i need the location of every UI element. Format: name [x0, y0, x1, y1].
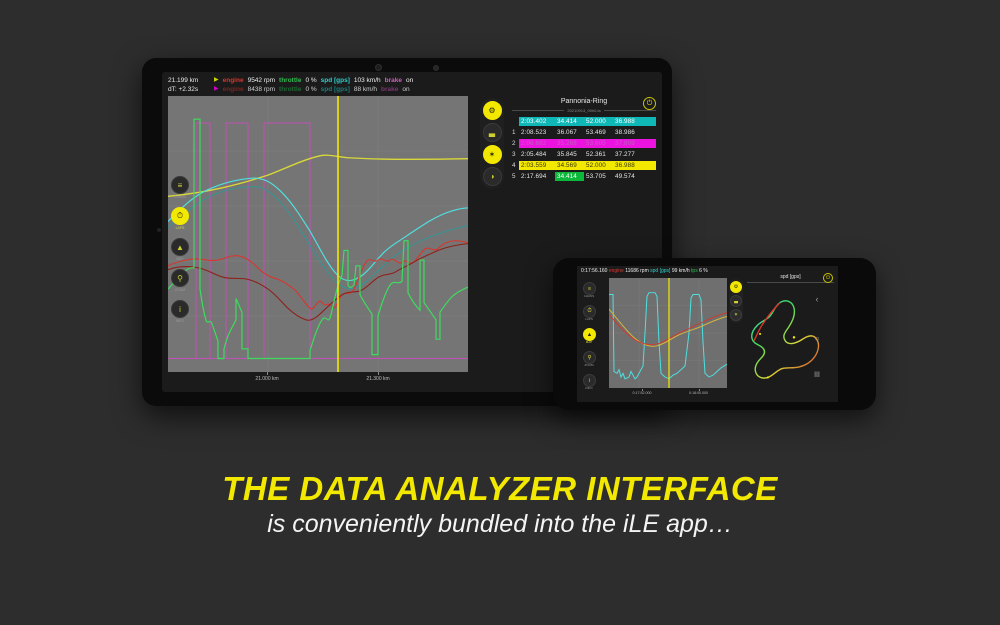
sidebar-item-label: INFO: [171, 319, 189, 323]
sector-3: 36.988: [613, 161, 642, 170]
sector-1: 35.268: [555, 139, 584, 148]
brake-label-a: brake: [385, 76, 402, 85]
phone-device: 0:17:56.160 engine 11686 rpm spd [gps] 9…: [553, 258, 876, 410]
phone-speed-label: spd [gps]: [650, 268, 670, 274]
cursor-icon: ✶: [734, 312, 738, 318]
brake-label-b: brake: [381, 85, 398, 94]
caption: THE DATA ANALYZER INTERFACE is convenien…: [0, 470, 1000, 541]
bar-chart-icon: ▃: [734, 298, 738, 304]
phone-engine-value: 11686 rpm: [625, 268, 649, 274]
lap-time: 2:03.402: [519, 117, 555, 126]
track-name: Pannonia-Ring: [561, 98, 607, 105]
throttle-value-b: 0 %: [305, 85, 316, 94]
session-identifier: 20210913_09h0.la: [512, 108, 656, 113]
overlay-fab[interactable]: ◑: [483, 167, 502, 186]
lap-number: 4: [512, 162, 519, 169]
throttle-label-b: throttle: [279, 85, 301, 94]
sidebar-item-label: LAPS: [171, 226, 189, 230]
sidebar-item-label: MAP: [171, 257, 189, 261]
sidebar: ≡ CHANS ⏱ LAPS ▲ MAP ⚲ ZOOM: [168, 176, 192, 323]
bar-chart-fab[interactable]: ▃: [483, 123, 502, 142]
phone-tps-value: 6 %: [699, 268, 708, 274]
table-row[interactable]: 3 2:05.484 35.845 52.361 37.277: [512, 150, 656, 159]
sector-1: 34.414: [555, 172, 584, 181]
chart-tool-buttons: ⚙ ▃ ✶ ◑: [480, 98, 504, 189]
x-tick-label-1: 21.300 km: [366, 376, 389, 382]
lap-time: 2:05.484: [519, 150, 555, 159]
cursor-fab[interactable]: ✶: [483, 145, 502, 164]
map-pin-icon: ▲: [171, 238, 189, 256]
lap-time: 2:17.694: [519, 172, 555, 181]
lap-number: 5: [512, 173, 519, 180]
session-name: 20210913_09h0.la: [567, 108, 600, 113]
speed-label-a: spd [gps]: [321, 76, 350, 85]
engine-value-a: 9542 rpm: [248, 76, 275, 85]
sidebar-item-laps[interactable]: ⏱ LAPS: [171, 207, 189, 230]
brake-value-b: on: [402, 85, 409, 94]
phone-x-tick-1: 0:18:00.000: [689, 391, 708, 395]
engine-label-a: engine: [223, 76, 244, 85]
stopwatch-icon: ⏱: [171, 207, 189, 225]
gear-icon: ⚙: [488, 106, 495, 115]
sector-1: 34.414: [555, 117, 584, 126]
info-icon: i: [171, 300, 189, 318]
phone-x-tick-0: 0:17:52.000: [633, 391, 652, 395]
sector-2: 52.000: [584, 161, 613, 170]
sector-3: 49.574: [613, 172, 642, 181]
caption-subline: is conveniently bundled into the iLE app…: [0, 508, 1000, 541]
sidebar-item-label: CHANS: [171, 195, 189, 199]
poster-background: 21.199 km ▶ engine 9542 rpm throttle 0 %…: [0, 0, 1000, 625]
distance-value: 21.199 km: [168, 76, 210, 85]
phone-settings-gear-fab[interactable]: ⚙: [730, 281, 742, 293]
bar-chart-icon: ▃: [489, 128, 495, 137]
sector-2: 53.469: [584, 128, 613, 137]
lap-marker-b-icon: ▶: [214, 85, 219, 94]
stopwatch-icon: ⏱: [587, 308, 591, 315]
phone-speed-value: 99 km/h: [672, 268, 690, 274]
phone-navigation-bar: ‹ ○ ‖‖: [802, 266, 832, 402]
phone-sidebar: ≡ CHANS ⏱ LAPS ▲ MAP ⚲ ZOOM i INFO: [577, 266, 601, 402]
throttle-value-a: 0 %: [305, 76, 316, 85]
map-pin-icon: ▲: [587, 332, 592, 338]
sector-3: 36.988: [613, 117, 642, 126]
sidebar-item-zoom[interactable]: ⚲ ZOOM: [171, 269, 189, 292]
lap-time: 2:03.559: [519, 161, 555, 170]
sidebar-item-map[interactable]: ▲ MAP: [171, 238, 189, 261]
lap-number: 2: [512, 140, 519, 147]
lap-time: 2:08.523: [519, 128, 555, 137]
sidebar-item-label: ZOOM: [171, 288, 189, 292]
sector-2: 53.605: [584, 139, 613, 148]
lap-time: 2:06.682: [519, 139, 555, 148]
delta-time-value: dT: +2.32s: [168, 85, 210, 94]
phone-sidebar-label: MAP: [577, 340, 601, 344]
caption-headline: THE DATA ANALYZER INTERFACE: [0, 470, 1000, 508]
sector-2: 53.705: [584, 172, 613, 181]
phone-screen: 0:17:56.160 engine 11686 rpm spd [gps] 9…: [577, 266, 838, 402]
phone-telemetry-chart[interactable]: [609, 278, 727, 388]
power-icon[interactable]: ⏻: [643, 97, 656, 110]
settings-gear-fab[interactable]: ⚙: [483, 101, 502, 120]
sector-1: 34.569: [555, 161, 584, 170]
table-row[interactable]: 2 2:06.682 35.268 53.605 37.809: [512, 139, 656, 148]
magnifier-icon: ⚲: [171, 269, 189, 287]
chart-x-axis: 21.000 km 21.300 km: [168, 372, 468, 386]
phone-sidebar-label: CHANS: [577, 294, 601, 298]
overlay-icon: ◑: [490, 172, 495, 181]
sector-3: 37.277: [613, 150, 642, 159]
sidebar-item-chans[interactable]: ≡ CHANS: [171, 176, 189, 199]
engine-label-b: engine: [223, 85, 244, 94]
phone-chart-x-axis: 0:17:52.000 0:18:00.000: [609, 389, 727, 399]
sector-2: 52.361: [584, 150, 613, 159]
engine-value-b: 8438 rpm: [248, 85, 275, 94]
gear-icon: ⚙: [734, 284, 738, 290]
brake-value-a: on: [406, 76, 413, 85]
phone-engine-label: engine: [609, 268, 624, 274]
speed-value-a: 103 km/h: [354, 76, 381, 85]
sliders-icon: ≡: [171, 176, 189, 194]
sliders-icon: ≡: [588, 286, 591, 292]
phone-sidebar-label: LAPS: [577, 317, 601, 321]
telemetry-row-a: 21.199 km ▶ engine 9542 rpm throttle 0 %…: [168, 76, 658, 85]
phone-sidebar-label: ZOOM: [577, 363, 601, 367]
phone-map-title: spd [gps]: [780, 274, 800, 280]
lap-number: 1: [512, 129, 519, 136]
phone-cursor-fab[interactable]: ✶: [730, 309, 742, 321]
phone-tps-label: tps: [691, 268, 698, 274]
table-row[interactable]: 5 2:17.694 34.414 53.705 49.574: [512, 172, 656, 181]
lap-number: 3: [512, 151, 519, 158]
tablet-camera: [375, 64, 439, 71]
sector-1: 36.067: [555, 128, 584, 137]
table-row[interactable]: 1 2:08.523 36.067 53.469 38.986: [512, 128, 656, 137]
tablet-sensor: [157, 228, 161, 232]
table-row[interactable]: 4 2:03.559 34.569 52.000 36.988: [512, 161, 656, 170]
table-row[interactable]: 2:03.402 34.414 52.000 36.988: [512, 117, 656, 126]
sector-3: 37.809: [613, 139, 642, 148]
phone-sidebar-label: INFO: [577, 386, 601, 390]
magnifier-icon: ⚲: [587, 355, 591, 361]
phone-bar-chart-fab[interactable]: ▃: [730, 295, 742, 307]
throttle-label-a: throttle: [279, 76, 301, 85]
sector-3: 38.986: [613, 128, 642, 137]
speed-value-b: 88 km/h: [354, 85, 377, 94]
phone-chart-tool-buttons: ⚙ ▃ ✶: [729, 279, 743, 323]
telemetry-row-b: dT: +2.32s ▶ engine 8438 rpm throttle 0 …: [168, 85, 658, 94]
sector-1: 35.845: [555, 150, 584, 159]
track-title-bar: Pannonia-Ring ⏻: [510, 96, 658, 105]
sector-2: 52.000: [584, 117, 613, 126]
speed-label-b: spd [gps]: [321, 85, 350, 94]
info-icon: i: [589, 378, 590, 384]
lap-rows: 2:03.402 34.414 52.000 36.988 1 2:08.523…: [510, 117, 658, 181]
x-tick-label-0: 21.000 km: [255, 376, 278, 382]
recents-icon[interactable]: ‖‖: [814, 372, 820, 379]
lap-marker-a-icon: ▶: [214, 76, 219, 85]
back-icon[interactable]: ‹: [816, 294, 819, 304]
sidebar-item-info[interactable]: i INFO: [171, 300, 189, 323]
cursor-icon: ✶: [489, 150, 496, 159]
telemetry-chart[interactable]: [168, 96, 468, 372]
telemetry-readout: 21.199 km ▶ engine 9542 rpm throttle 0 %…: [168, 76, 658, 94]
home-icon[interactable]: ○: [815, 334, 820, 343]
